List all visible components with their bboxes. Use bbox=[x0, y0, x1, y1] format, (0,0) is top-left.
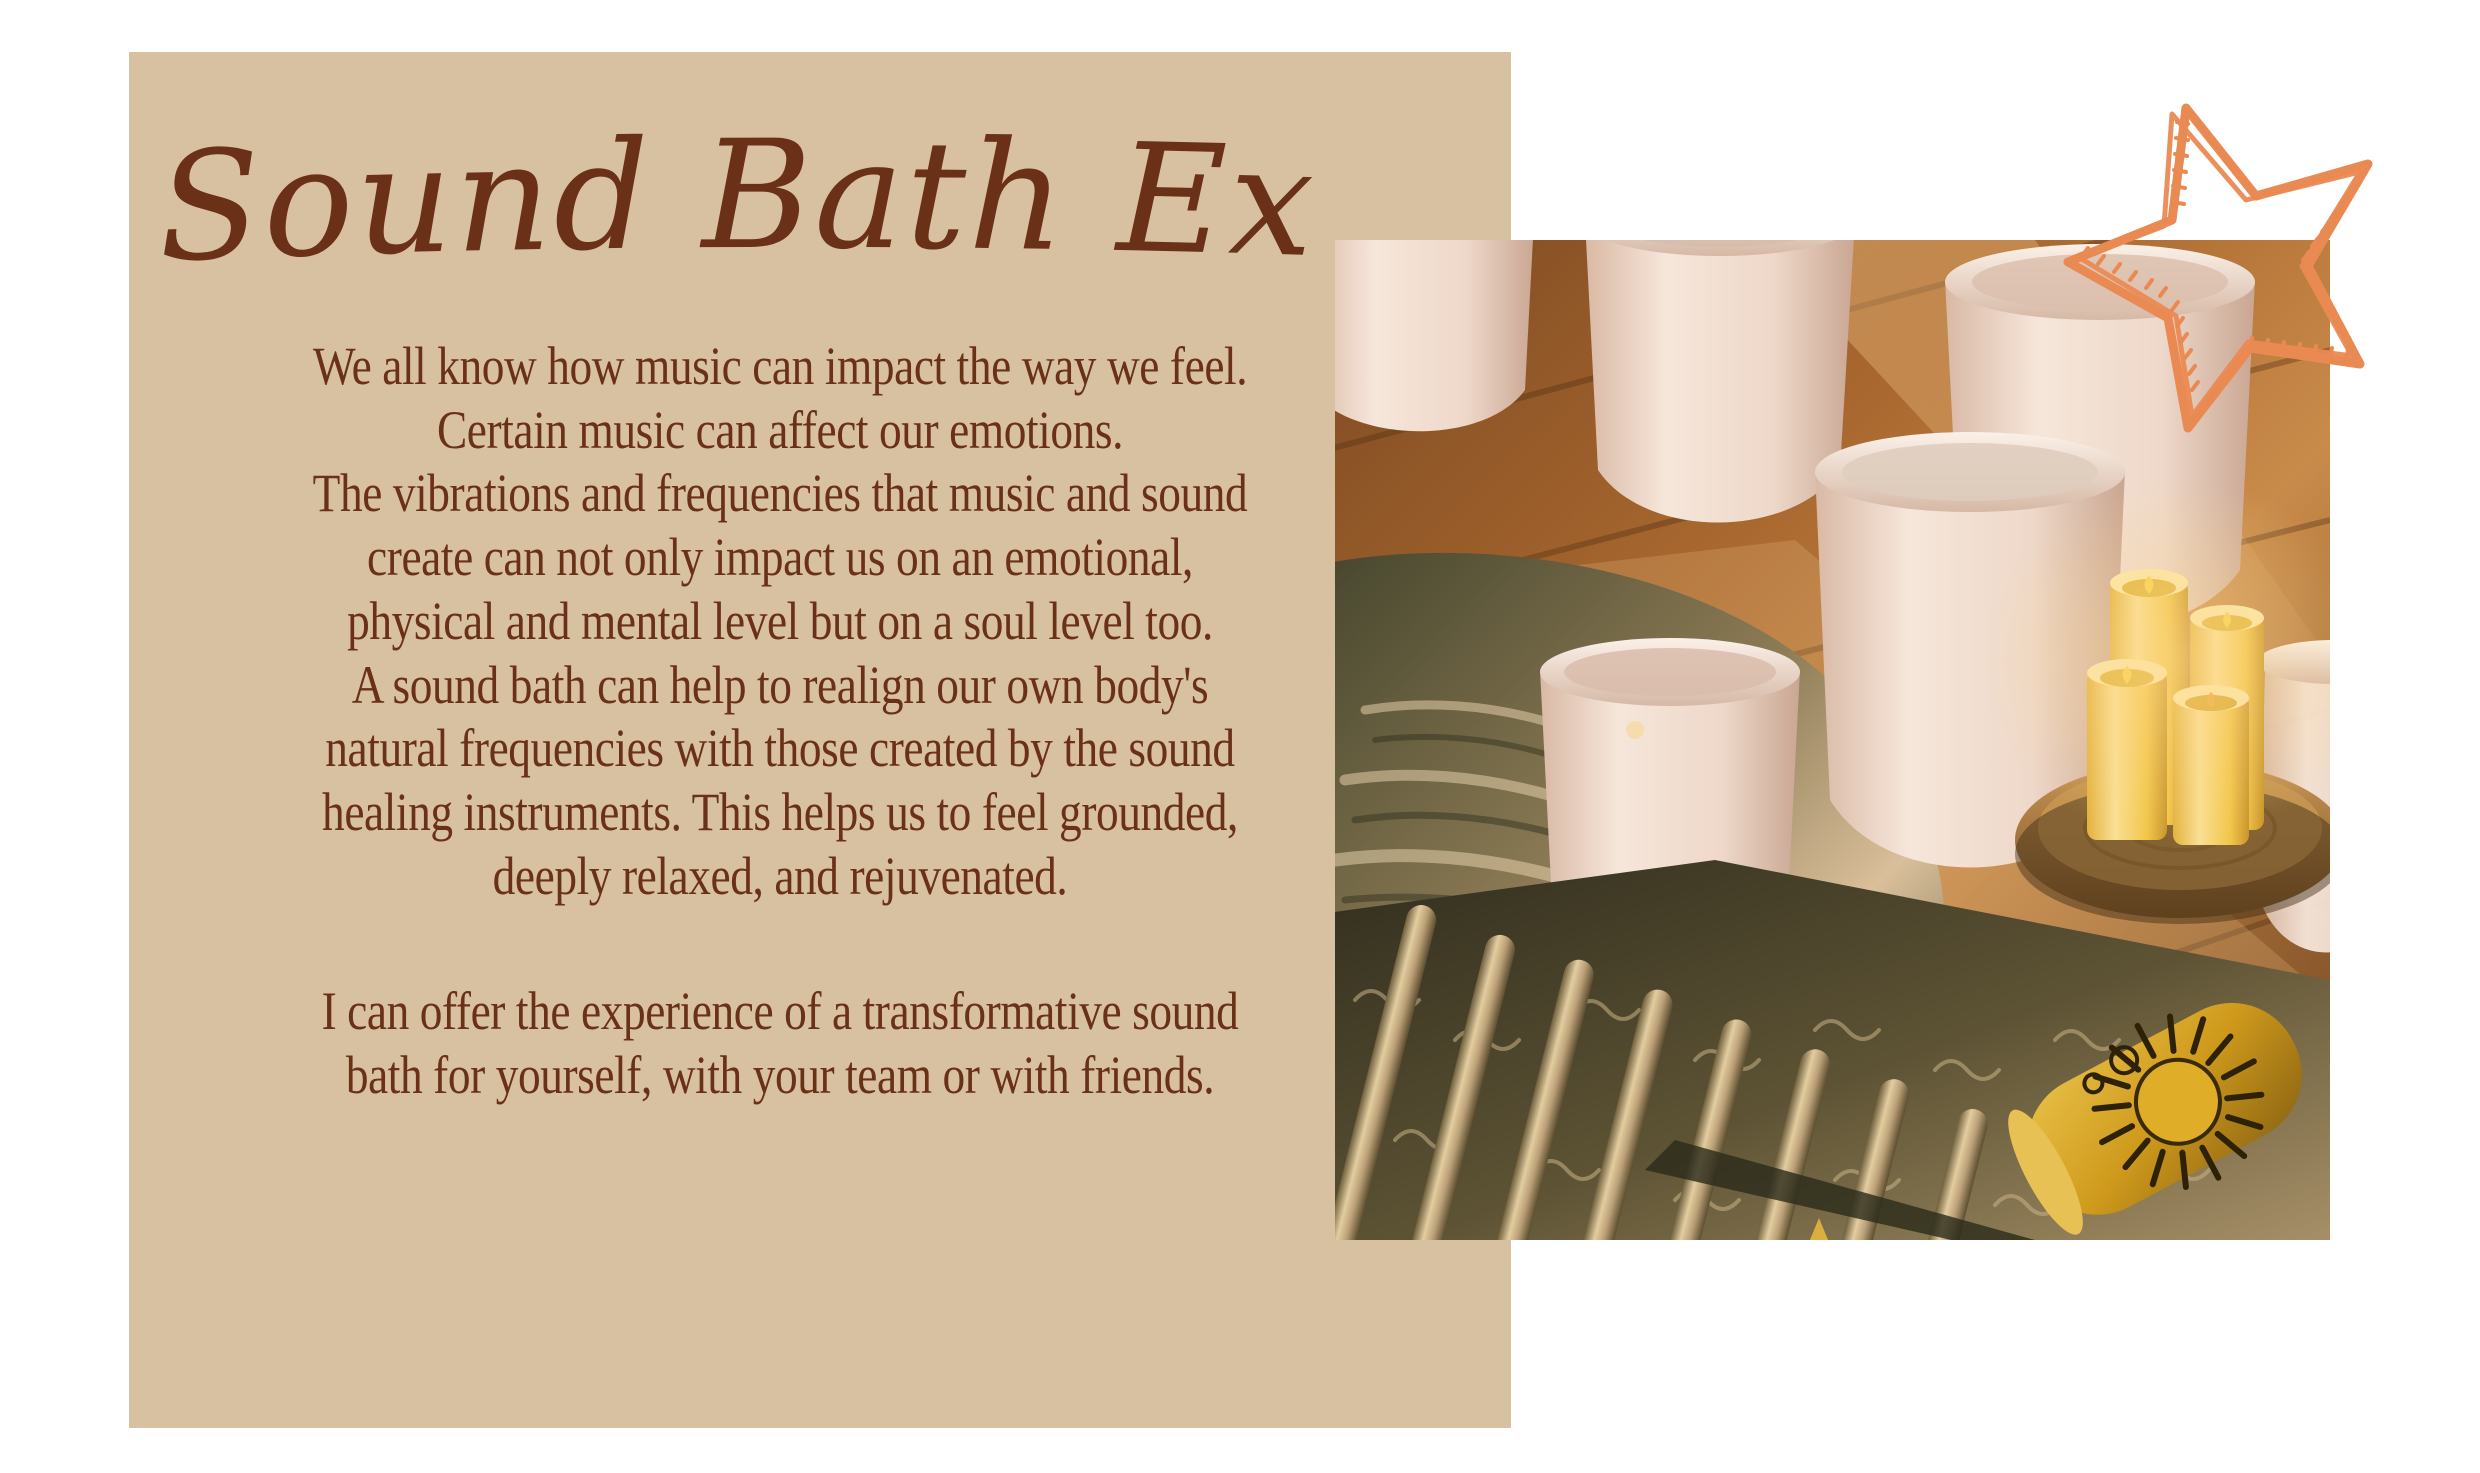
body-copy: We all know how music can impact the way… bbox=[293, 335, 1267, 1108]
singing-bowl-back-centre bbox=[1585, 240, 1855, 523]
photo-illustration bbox=[1335, 240, 2330, 1240]
singing-bowl-back-left bbox=[1335, 240, 1535, 431]
body-paragraph-1: We all know how music can impact the way… bbox=[293, 335, 1267, 462]
candle-group bbox=[1980, 480, 2330, 924]
paragraph-spacer bbox=[293, 908, 1267, 980]
body-paragraph-3: A sound bath can help to realign our own… bbox=[293, 654, 1267, 909]
body-paragraph-4: I can offer the experience of a transfor… bbox=[293, 980, 1267, 1107]
body-paragraph-2: The vibrations and frequencies that musi… bbox=[293, 462, 1267, 653]
sound-bath-setup-photo bbox=[1335, 240, 2330, 1240]
